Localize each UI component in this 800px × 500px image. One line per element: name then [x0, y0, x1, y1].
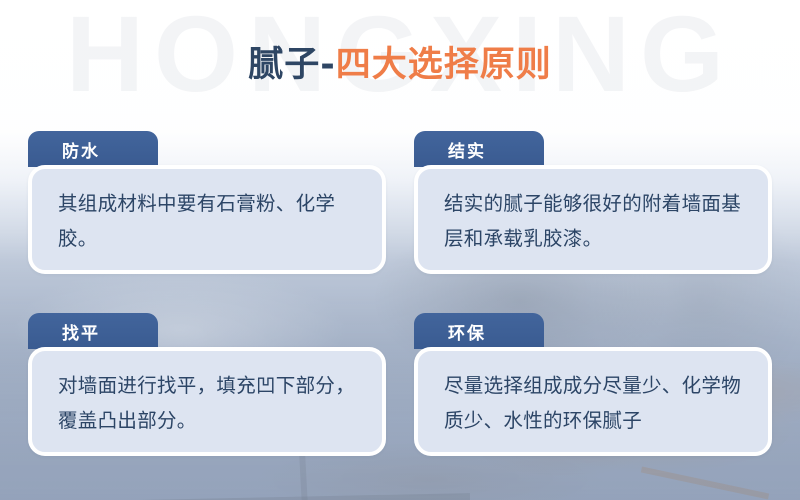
card-tab-eco[interactable]: 环保: [414, 313, 544, 349]
principle-card: 结实 结实的腻子能够很好的附着墙面基层和承载乳胶漆。: [414, 131, 772, 274]
card-body-leveling: 对墙面进行找平，填充凹下部分，覆盖凸出部分。: [28, 347, 386, 456]
page-title: 腻子-四大选择原则: [0, 36, 800, 87]
page-title-accent: 四大选择原则: [336, 45, 552, 85]
card-body-sturdy: 结实的腻子能够很好的附着墙面基层和承载乳胶漆。: [414, 165, 772, 274]
page-title-primary: 腻子-: [248, 45, 336, 85]
infographic-canvas: HONGXING 腻子-四大选择原则 防水 其组成材料中要有石膏粉、化学胶。 结…: [0, 0, 800, 500]
card-tab-sturdy[interactable]: 结实: [414, 131, 544, 167]
card-tab-leveling[interactable]: 找平: [28, 313, 158, 349]
card-body-waterproof: 其组成材料中要有石膏粉、化学胶。: [28, 165, 386, 274]
principle-card: 找平 对墙面进行找平，填充凹下部分，覆盖凸出部分。: [28, 313, 386, 456]
principle-card-grid: 防水 其组成材料中要有石膏粉、化学胶。 结实 结实的腻子能够很好的附着墙面基层和…: [28, 131, 772, 456]
principle-card: 防水 其组成材料中要有石膏粉、化学胶。: [28, 131, 386, 274]
principle-card: 环保 尽量选择组成成分尽量少、化学物质少、水性的环保腻子: [414, 313, 772, 456]
card-tab-waterproof[interactable]: 防水: [28, 131, 158, 167]
card-body-eco: 尽量选择组成成分尽量少、化学物质少、水性的环保腻子: [414, 347, 772, 456]
